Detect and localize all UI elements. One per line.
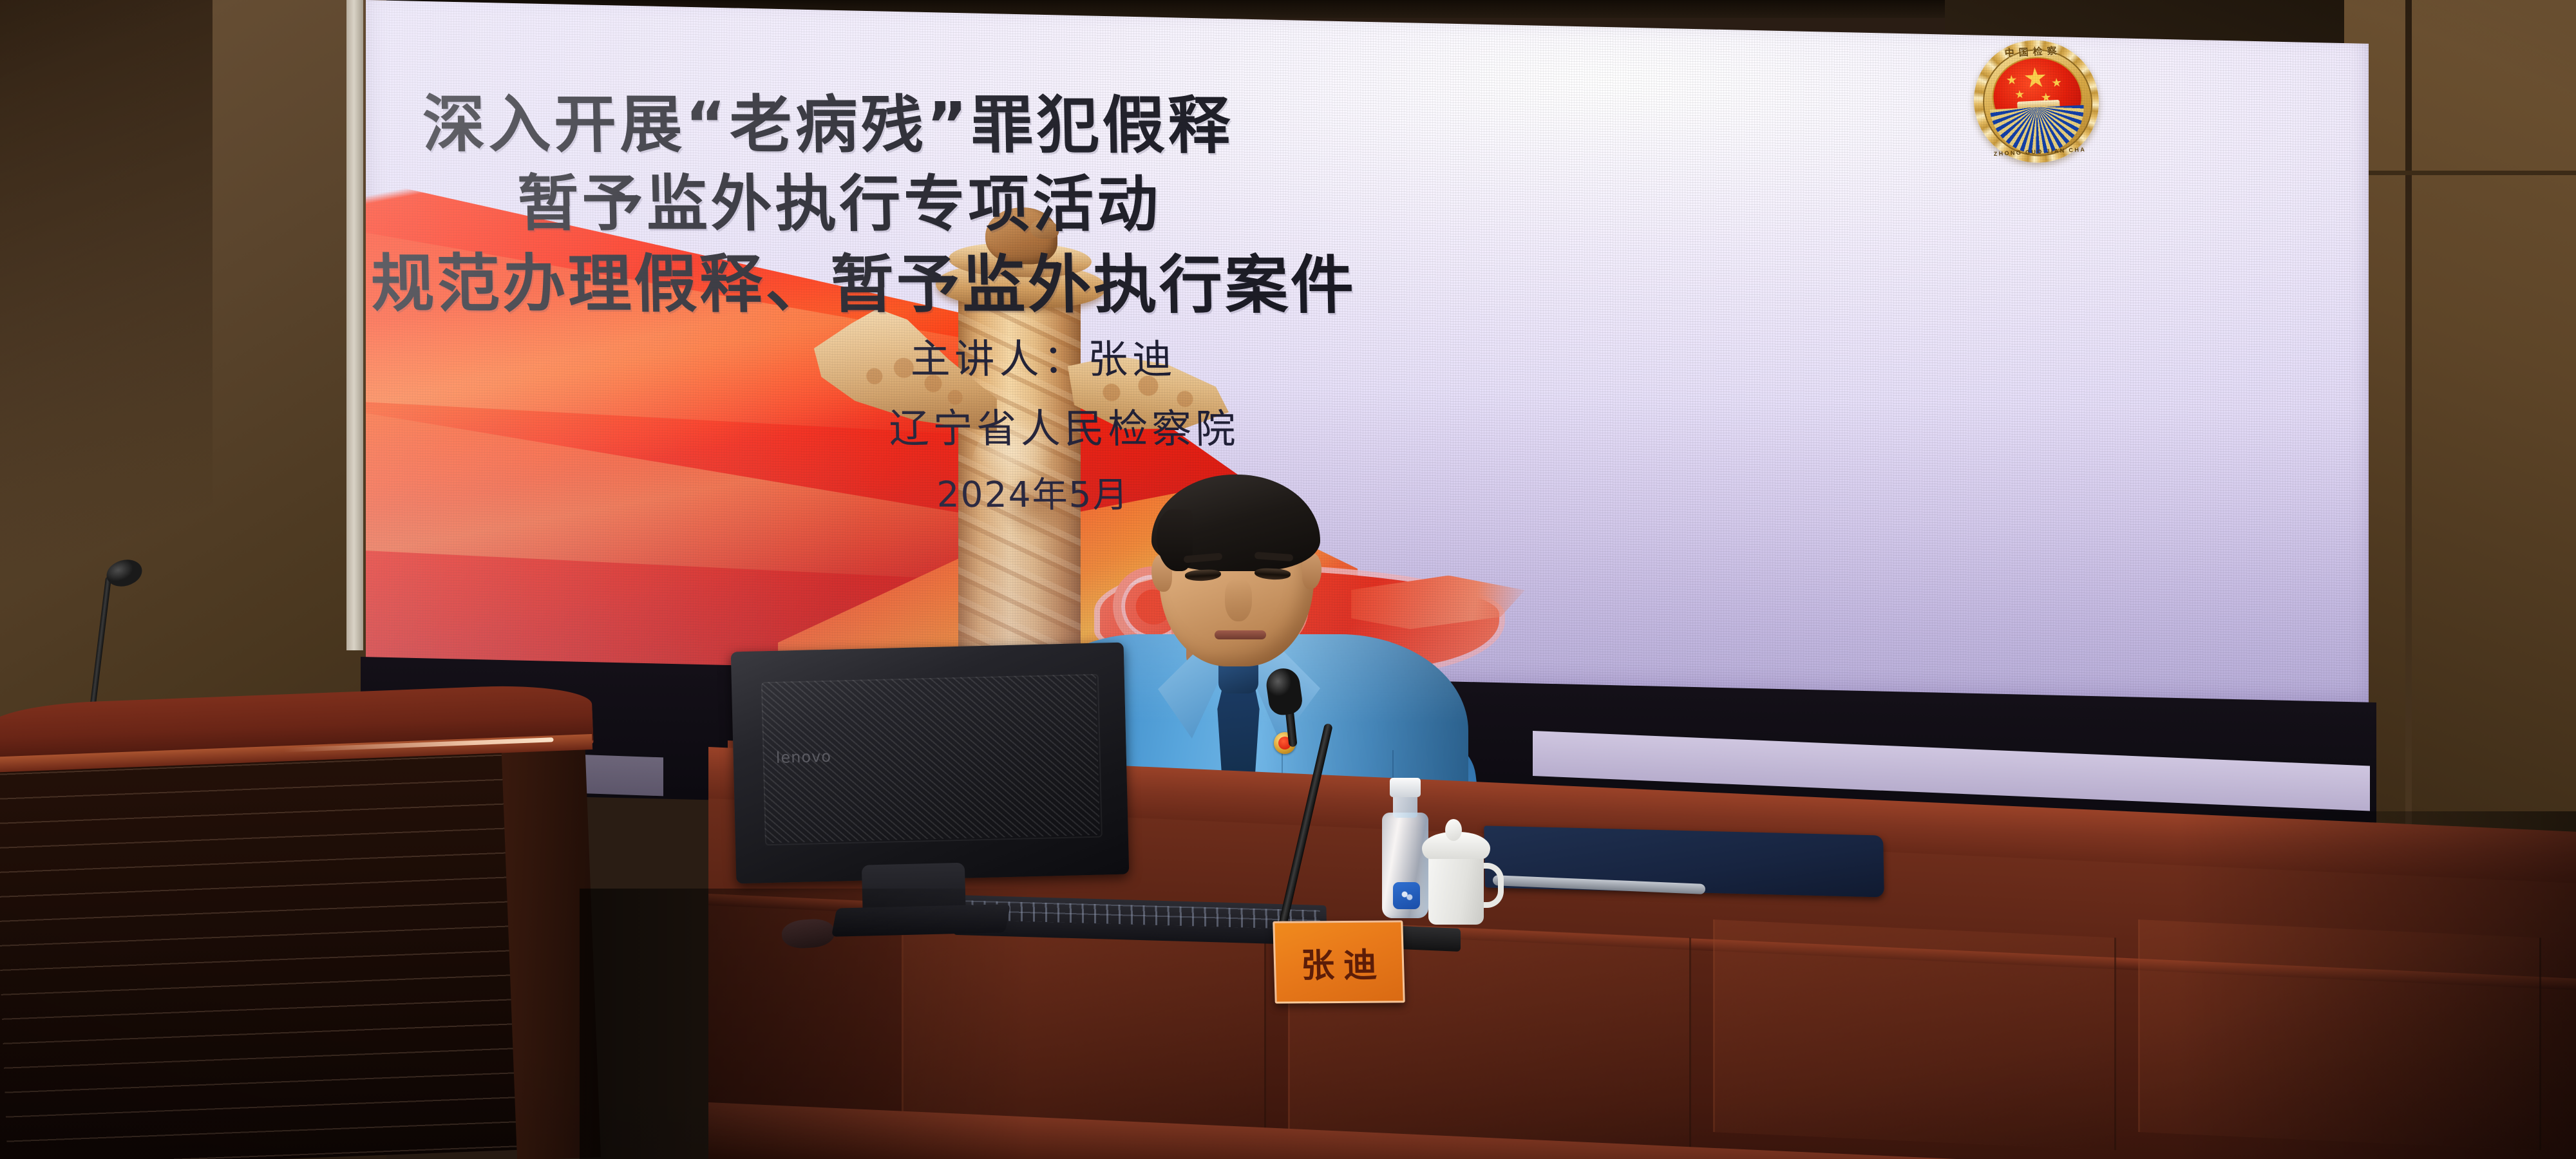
speaker-mouth [1215,630,1266,639]
rostrum-panel-3 [1713,919,2116,1150]
speaker-nose [1225,579,1252,621]
water-bottle-label [1393,882,1420,909]
emblem-star-3 [2015,90,2025,99]
slide-title-line-1: 深入开展“老病残”罪犯假释 [422,73,1235,165]
right-wall-panel [2344,0,2576,850]
right-wall-seam [2405,0,2412,837]
huabiao-cloud-wing-right [1068,345,1229,445]
lower-right-shadow [2177,811,2576,1159]
right-wall-seam-horizontal [2344,171,2576,175]
speaker-hair [1151,475,1320,571]
emblem-chinese-label: 中国检察 [1970,42,2098,85]
name-placard: 张迪 [1273,920,1405,1003]
lower-left-shadow [580,889,1030,1159]
teacup-lid-knob [1445,819,1462,841]
presentation-photo-scene: 中国检察 ZHONG GUO JIAN CHA 深入开展“老病残”罪犯假释 暂予… [0,0,2576,1159]
monitor-brand-label: lenovo [775,748,831,767]
teacup-body[interactable] [1428,849,1484,925]
left-wall-trim [346,0,363,650]
water-bottle-cap[interactable] [1390,778,1421,797]
procuratorate-emblem-icon: 中国检察 ZHONG GUO JIAN CHA [1970,37,2103,165]
name-placard-text: 张迪 [1291,938,1387,986]
lectern-slat-detail [0,752,574,1159]
huabiao-beast-statue [985,207,1057,265]
